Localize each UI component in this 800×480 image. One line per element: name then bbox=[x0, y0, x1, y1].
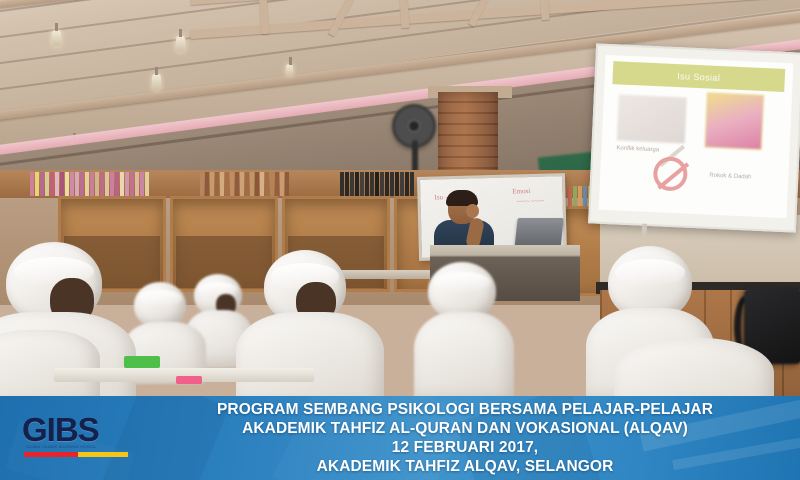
whiteboard-note-right: Emosi bbox=[512, 187, 530, 195]
screen-stand bbox=[641, 224, 647, 238]
slide-caption-right: Rokok & Dadah bbox=[709, 173, 751, 181]
banner-title-block: PROGRAM SEMBANG PSIKOLOGI BERSAMA PELAJA… bbox=[130, 396, 800, 480]
poster-stage: Isu — Masalah Emosi ~~~~ ~~~~ 2 Isu Sosi bbox=[0, 0, 800, 480]
student-foreground-lowerleft bbox=[0, 330, 90, 400]
book-stack bbox=[30, 172, 180, 196]
banner-line-3: 12 FEBRUARI 2017, bbox=[392, 438, 538, 457]
student-foreground-right bbox=[614, 338, 764, 400]
slide-title-text: Isu Sosial bbox=[677, 71, 720, 83]
gibs-logo: GIBS GLOBAL ISLAMIC BOARDING SCHOOL bbox=[22, 412, 132, 464]
banner-line-4: AKADEMIK TAHFIZ ALQAV, SELANGOR bbox=[317, 457, 614, 476]
ceiling-lamp bbox=[286, 64, 293, 76]
student-center-listener bbox=[416, 262, 512, 400]
banner-line-1: PROGRAM SEMBANG PSIKOLOGI BERSAMA PELAJA… bbox=[217, 400, 713, 419]
slide-title-band: Isu Sosial bbox=[612, 61, 786, 92]
ceiling-lamp bbox=[152, 74, 161, 90]
green-pencil-case bbox=[124, 356, 160, 368]
ceiling-lamp bbox=[52, 30, 61, 46]
projector-screen: Isu Sosial Konflik keluarga Rokok & Dada… bbox=[588, 43, 800, 232]
pink-marker bbox=[176, 376, 202, 384]
ceiling-lamp bbox=[176, 36, 185, 52]
no-smoking-icon bbox=[652, 156, 688, 192]
gibs-wordmark: GIBS bbox=[22, 412, 132, 448]
banner-line-2: AKADEMIK TAHFIZ AL-QURAN DAN VOKASIONAL … bbox=[242, 419, 688, 438]
gibs-tagline: GLOBAL ISLAMIC BOARDING SCHOOL bbox=[26, 445, 126, 450]
slide-caption-left: Konflik keluarga bbox=[616, 145, 659, 153]
presentation-slide: Isu Sosial Konflik keluarga Rokok & Dada… bbox=[599, 55, 794, 218]
speaker-hand bbox=[466, 204, 479, 218]
slide-image-family bbox=[617, 94, 687, 144]
book-stack bbox=[200, 172, 320, 196]
gibs-accent-bar bbox=[24, 452, 128, 457]
slide-image-poster bbox=[705, 92, 764, 150]
event-photo: Isu — Masalah Emosi ~~~~ ~~~~ 2 Isu Sosi bbox=[0, 0, 800, 400]
